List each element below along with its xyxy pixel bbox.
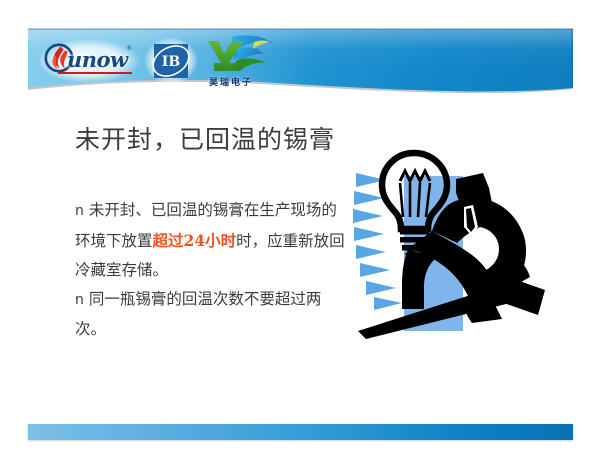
light-rays-icon [353, 173, 402, 310]
haorui-chinese-name: 昊瑞电子 [209, 75, 253, 88]
bullet-marker-icon-2: n [75, 292, 89, 308]
footer-accent-bar [28, 424, 573, 440]
body-text-block: n未开封、已回温的锡膏在生产现场的环境下放置超过24小时时，应重新放回冷藏室存储… [75, 196, 345, 344]
page-title: 未开封，已回温的锡膏 [75, 120, 335, 156]
bullet-item-2: n同一瓶锡膏的回温次数不要超过两次。 [75, 285, 345, 344]
bullet-marker-icon: n [75, 203, 89, 219]
bullet-1-line-1: 未开封、已回温的锡膏在生产 [89, 201, 291, 219]
unow-logo: unow ® [40, 39, 140, 83]
logo-row: unow ® IB [40, 31, 276, 91]
unow-wordmark: unow [67, 47, 128, 72]
unow-registered-icon: ® [126, 45, 132, 52]
ib-oval-logo: IB [148, 39, 194, 83]
bullet-item-1: n未开封、已回温的锡膏在生产现场的环境下放置超过24小时时，应重新放回冷藏室存储… [75, 196, 345, 285]
bullet-1-highlight: 超过24小时 [153, 231, 237, 250]
haorui-swoosh-icon [202, 33, 276, 77]
ib-logo-graphic: IB [148, 39, 194, 83]
slide-canvas: unow ® IB [0, 0, 600, 463]
unow-underline [58, 72, 132, 74]
businessman-carrying-lightbulb-illustration [352, 143, 547, 339]
bullet-2-line-1: 同一瓶锡膏的回温次数不要超 [89, 290, 291, 308]
svg-text:IB: IB [162, 54, 181, 70]
haorui-electronics-logo: 昊瑞电子 [202, 35, 276, 87]
